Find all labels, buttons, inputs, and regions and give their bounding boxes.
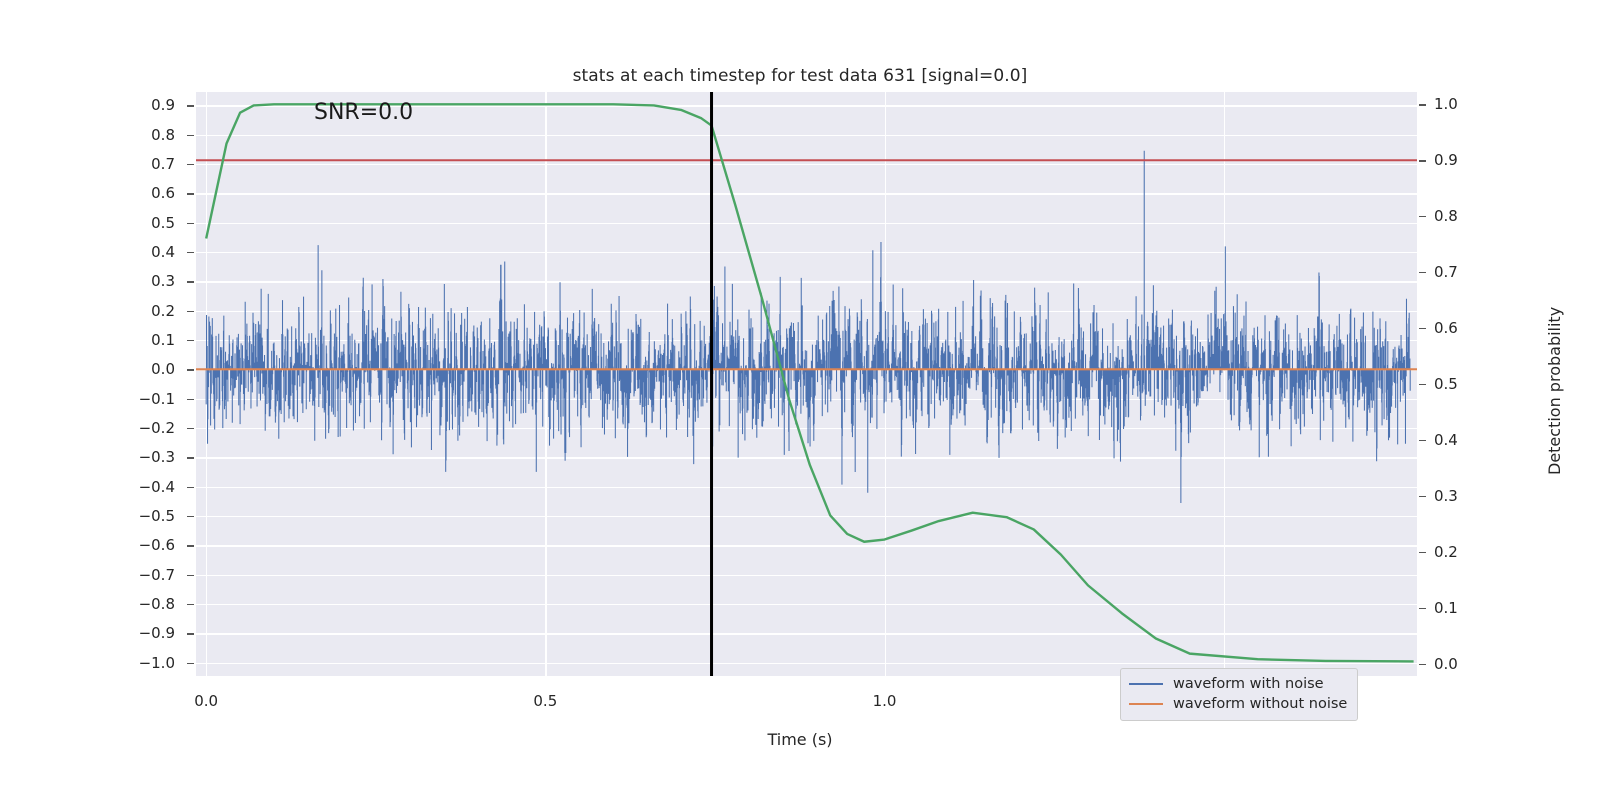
tick-mark: [187, 164, 194, 165]
legend-item-label: waveform without noise: [1173, 696, 1347, 712]
tick-label: 0.3: [120, 272, 175, 290]
tick-label: 0.5: [1434, 375, 1494, 393]
tick-label: 0.1: [120, 331, 175, 349]
waveform-with-noise-series: [206, 151, 1410, 503]
tick-label: −0.7: [120, 566, 175, 584]
tick-mark: [187, 340, 194, 341]
tick-mark: [187, 193, 194, 194]
tick-label: −0.2: [120, 419, 175, 437]
legend: waveform with noise waveform without noi…: [1120, 668, 1358, 721]
tick-label: 0.1: [1434, 599, 1494, 617]
legend-item[interactable]: waveform with noise: [1129, 674, 1349, 694]
plot-area: [196, 92, 1417, 676]
snr-annotation: SNR=0.0: [314, 100, 413, 125]
tick-label: −0.9: [120, 624, 175, 642]
tick-mark: [187, 633, 194, 634]
tick-label: 0.4: [120, 243, 175, 261]
tick-label: 0.2: [1434, 543, 1494, 561]
x-axis-label: Time (s): [0, 730, 1600, 749]
tick-mark: [1419, 664, 1426, 665]
legend-item-label: waveform with noise: [1173, 676, 1324, 692]
tick-mark: [187, 604, 194, 605]
tick-label: 0.0: [1434, 655, 1494, 673]
tick-label: −0.4: [120, 478, 175, 496]
tick-mark: [1419, 440, 1426, 441]
tick-label: 0.7: [120, 155, 175, 173]
tick-mark: [187, 311, 194, 312]
tick-mark: [1419, 160, 1426, 161]
tick-mark: [187, 487, 194, 488]
y-axis-label-right: Detection probability: [1545, 307, 1564, 475]
tick-label: 0.3: [1434, 487, 1494, 505]
page-title: stats at each timestep for test data 631…: [0, 66, 1600, 86]
tick-mark: [187, 516, 194, 517]
tick-label: 0.0: [120, 360, 175, 378]
tick-label: 1.0: [1434, 95, 1494, 113]
tick-label: −0.5: [120, 507, 175, 525]
tick-label: −0.1: [120, 390, 175, 408]
tick-label: 1.0: [855, 692, 915, 710]
figure-canvas: stats at each timestep for test data 631…: [0, 0, 1600, 800]
tick-label: 0.5: [120, 214, 175, 232]
tick-mark: [187, 545, 194, 546]
tick-mark: [187, 252, 194, 253]
tick-mark: [187, 223, 194, 224]
tick-label: 0.7: [1434, 263, 1494, 281]
tick-mark: [187, 105, 194, 106]
tick-label: 0.2: [120, 302, 175, 320]
tick-mark: [1419, 552, 1426, 553]
tick-mark: [187, 575, 194, 576]
tick-mark: [1419, 272, 1426, 273]
tick-label: 0.8: [1434, 207, 1494, 225]
tick-label: 0.6: [120, 184, 175, 202]
tick-label: 0.9: [1434, 151, 1494, 169]
tick-mark: [1419, 496, 1426, 497]
tick-label: 0.5: [515, 692, 575, 710]
tick-label: −1.0: [120, 654, 175, 672]
tick-mark: [187, 457, 194, 458]
tick-label: 0.9: [120, 96, 175, 114]
tick-mark: [187, 369, 194, 370]
legend-swatch-line-icon: [1129, 703, 1163, 705]
tick-label: 0.4: [1434, 431, 1494, 449]
tick-mark: [187, 135, 194, 136]
tick-mark: [1419, 384, 1426, 385]
tick-mark: [1419, 328, 1426, 329]
tick-mark: [1419, 608, 1426, 609]
tick-mark: [1419, 104, 1426, 105]
tick-label: −0.6: [120, 536, 175, 554]
tick-label: −0.8: [120, 595, 175, 613]
tick-mark: [187, 663, 194, 664]
tick-label: 0.0: [176, 692, 236, 710]
legend-item[interactable]: waveform without noise: [1129, 694, 1349, 714]
tick-label: 0.8: [120, 126, 175, 144]
tick-mark: [187, 428, 194, 429]
tick-mark: [187, 399, 194, 400]
tick-mark: [187, 281, 194, 282]
noise-trace: [206, 151, 1410, 503]
tick-label: −0.3: [120, 448, 175, 466]
tick-label: 0.6: [1434, 319, 1494, 337]
tick-mark: [1419, 216, 1426, 217]
plot-svg: [196, 92, 1417, 676]
legend-swatch-line-icon: [1129, 683, 1163, 685]
